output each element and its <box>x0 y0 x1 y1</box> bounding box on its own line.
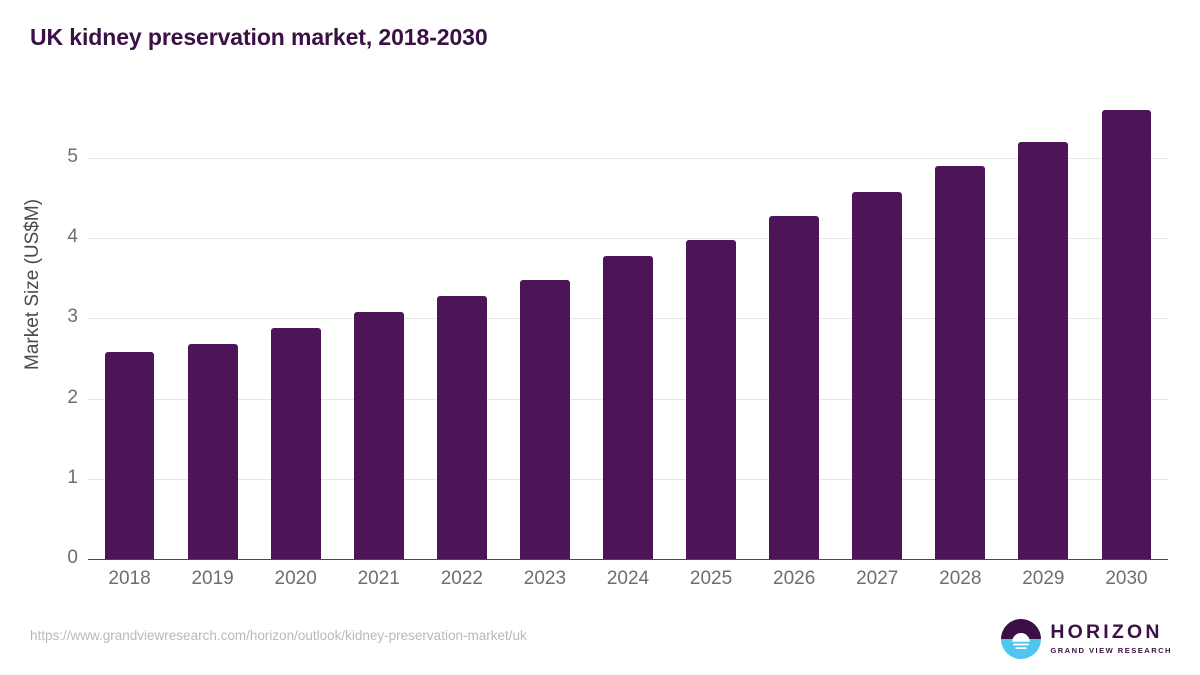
bar[interactable] <box>935 166 985 559</box>
bar[interactable] <box>354 312 404 559</box>
horizon-logo[interactable]: HORIZON GRAND VIEW RESEARCH <box>1001 617 1172 661</box>
x-tick-label: 2019 <box>171 568 254 590</box>
y-tick-label: 3 <box>56 306 78 328</box>
x-tick-label: 2026 <box>753 568 836 590</box>
chart-figure: UK kidney preservation market, 2018-2030… <box>0 0 1200 675</box>
bar[interactable] <box>852 192 902 559</box>
horizon-logo-mark <box>1001 619 1041 659</box>
y-tick-label: 1 <box>56 467 78 489</box>
bar[interactable] <box>1018 142 1068 559</box>
x-tick-label: 2025 <box>670 568 753 590</box>
source-url-text[interactable]: https://www.grandviewresearch.com/horizo… <box>30 628 527 643</box>
bar[interactable] <box>769 216 819 559</box>
bar[interactable] <box>603 256 653 559</box>
bar[interactable] <box>271 328 321 559</box>
horizon-tagline: GRAND VIEW RESEARCH <box>1050 647 1172 655</box>
y-tick-label: 2 <box>56 387 78 409</box>
bar[interactable] <box>686 240 736 559</box>
x-tick-label: 2023 <box>503 568 586 590</box>
x-tick-label: 2020 <box>254 568 337 590</box>
y-tick-label: 5 <box>56 146 78 168</box>
y-tick-label: 4 <box>56 226 78 248</box>
y-tick-label: 0 <box>56 547 78 569</box>
plot-area <box>88 158 1168 559</box>
x-tick-label: 2021 <box>337 568 420 590</box>
bar[interactable] <box>1102 110 1152 559</box>
bar[interactable] <box>105 352 155 559</box>
x-tick-label: 2030 <box>1085 568 1168 590</box>
x-tick-label: 2027 <box>836 568 919 590</box>
bar[interactable] <box>437 296 487 559</box>
x-tick-label: 2022 <box>420 568 503 590</box>
x-tick-label: 2029 <box>1002 568 1085 590</box>
gridline <box>88 238 1168 239</box>
page-title: UK kidney preservation market, 2018-2030 <box>30 24 488 51</box>
y-axis-label: Market Size (US$M) <box>22 198 44 369</box>
bar[interactable] <box>188 344 238 559</box>
x-tick-label: 2018 <box>88 568 171 590</box>
bar[interactable] <box>520 280 570 559</box>
horizon-wordmark: HORIZON <box>1050 623 1172 643</box>
horizon-logo-text: HORIZON GRAND VIEW RESEARCH <box>1050 623 1172 654</box>
gridline <box>88 158 1168 159</box>
x-tick-label: 2024 <box>586 568 669 590</box>
x-tick-label: 2028 <box>919 568 1002 590</box>
